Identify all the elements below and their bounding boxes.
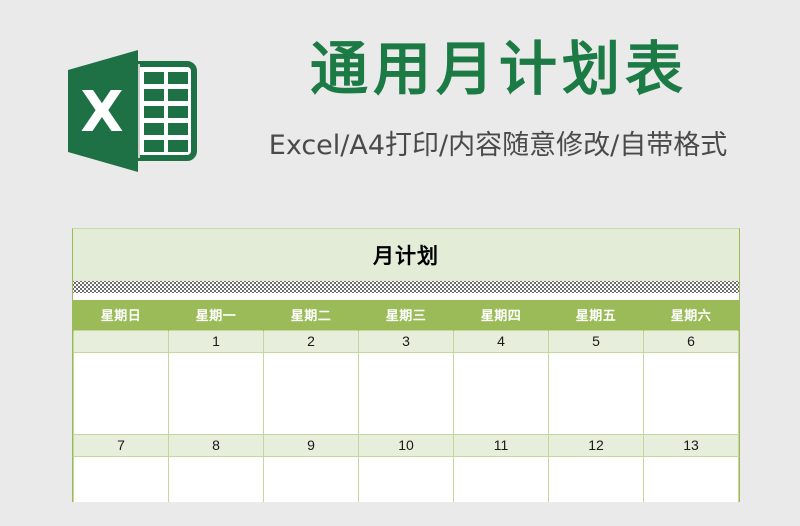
date-cell-w1-d1[interactable]: 1 <box>169 330 264 352</box>
weekday-cell-4: 星期四 <box>454 300 549 330</box>
note-cell-w2-d5[interactable] <box>549 456 644 502</box>
calendar-sheet: 月计划 星期日 星期一 星期二 星期三 星期四 星期五 星期六 1 2 <box>72 228 740 502</box>
date-cell-w2-d1[interactable]: 8 <box>169 434 264 456</box>
note-cell-w1-d6[interactable] <box>644 352 739 434</box>
page-title: 通用月计划表 <box>214 30 784 108</box>
note-cell-w2-d1[interactable] <box>169 456 264 502</box>
date-row-week-1: 1 2 3 4 5 6 <box>74 330 739 352</box>
weekday-cell-3: 星期三 <box>359 300 454 330</box>
page-subtitle: Excel/A4打印/内容随意修改/自带格式 <box>202 126 794 166</box>
weekday-cell-6: 星期六 <box>644 300 739 330</box>
header-banner: X 通用月计划表 Excel/A4打印/内容随意修改/自带格式 <box>0 0 800 200</box>
note-cell-w1-d0[interactable] <box>74 352 169 434</box>
calendar-body: 星期日 星期一 星期二 星期三 星期四 星期五 星期六 1 2 3 4 5 6 <box>74 300 739 502</box>
note-cell-w2-d4[interactable] <box>454 456 549 502</box>
weekday-cell-0: 星期日 <box>74 300 169 330</box>
weekday-cell-2: 星期二 <box>264 300 359 330</box>
date-cell-w2-d5[interactable]: 12 <box>549 434 644 456</box>
sheet-title-band: 月计划 <box>73 229 739 281</box>
date-cell-w1-d4[interactable]: 4 <box>454 330 549 352</box>
note-cell-w1-d1[interactable] <box>169 352 264 434</box>
weekday-cell-5: 星期五 <box>549 300 644 330</box>
svg-text:X: X <box>80 80 123 145</box>
note-cell-w1-d4[interactable] <box>454 352 549 434</box>
note-cell-w1-d3[interactable] <box>359 352 454 434</box>
date-cell-w1-d0[interactable] <box>74 330 169 352</box>
date-cell-w2-d4[interactable]: 11 <box>454 434 549 456</box>
note-cell-w2-d0[interactable] <box>74 456 169 502</box>
date-cell-w2-d0[interactable]: 7 <box>74 434 169 456</box>
note-cell-w2-d2[interactable] <box>264 456 359 502</box>
page-root: X 通用月计划表 Excel/A4打印/内容随意修改/自带格式 月计划 星期日 … <box>0 0 800 526</box>
sheet-title: 月计划 <box>373 240 439 270</box>
calendar-grid: 星期日 星期一 星期二 星期三 星期四 星期五 星期六 1 2 3 4 5 6 <box>73 300 739 502</box>
note-cell-w1-d5[interactable] <box>549 352 644 434</box>
content-row-week-1 <box>74 352 739 434</box>
date-cell-w1-d3[interactable]: 3 <box>359 330 454 352</box>
date-cell-w2-d2[interactable]: 9 <box>264 434 359 456</box>
date-cell-w1-d6[interactable]: 6 <box>644 330 739 352</box>
weekday-cell-1: 星期一 <box>169 300 264 330</box>
date-cell-w1-d2[interactable]: 2 <box>264 330 359 352</box>
weekday-header-row: 星期日 星期一 星期二 星期三 星期四 星期五 星期六 <box>74 300 739 330</box>
excel-logo-icon: X <box>62 48 198 174</box>
date-cell-w2-d3[interactable]: 10 <box>359 434 454 456</box>
content-row-week-2 <box>74 456 739 502</box>
note-cell-w2-d6[interactable] <box>644 456 739 502</box>
date-cell-w2-d6[interactable]: 13 <box>644 434 739 456</box>
dotted-pattern-divider <box>73 281 739 293</box>
divider-gap <box>73 293 739 300</box>
note-cell-w2-d3[interactable] <box>359 456 454 502</box>
date-row-week-2: 7 8 9 10 11 12 13 <box>74 434 739 456</box>
date-cell-w1-d5[interactable]: 5 <box>549 330 644 352</box>
note-cell-w1-d2[interactable] <box>264 352 359 434</box>
